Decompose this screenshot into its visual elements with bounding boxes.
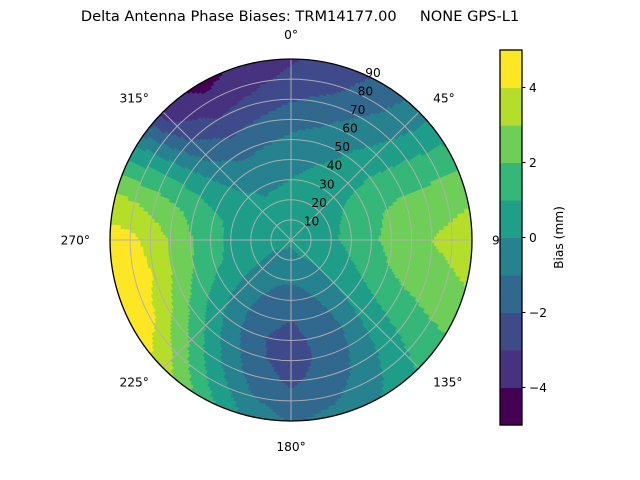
colorbar-tick-label: −4 [529, 381, 547, 395]
colorbar-band [500, 125, 522, 163]
colorbar-bands [500, 50, 522, 426]
colorbar-axis-label: Bias (mm) [552, 206, 566, 269]
colorbar-band [500, 163, 522, 201]
colorbar-ticks: −4−2024 [522, 81, 547, 395]
colorbar-tick-label: −2 [529, 306, 547, 320]
colorbar-band [500, 313, 522, 351]
colorbar-band [500, 50, 522, 88]
colorbar-band [500, 238, 522, 276]
colorbar-band [500, 275, 522, 313]
colorbar-band [500, 200, 522, 238]
colorbar-tick-label: 2 [529, 156, 537, 170]
matplotlib-figure: Delta Antenna Phase Biases: TRM14177.00 … [0, 0, 640, 480]
colorbar-band [500, 88, 522, 126]
colorbar-band [500, 350, 522, 388]
colorbar: −4−2024 Bias (mm) [0, 0, 640, 480]
colorbar-band [500, 388, 522, 426]
colorbar-tick-label: 0 [529, 231, 537, 245]
colorbar-tick-label: 4 [529, 81, 537, 95]
